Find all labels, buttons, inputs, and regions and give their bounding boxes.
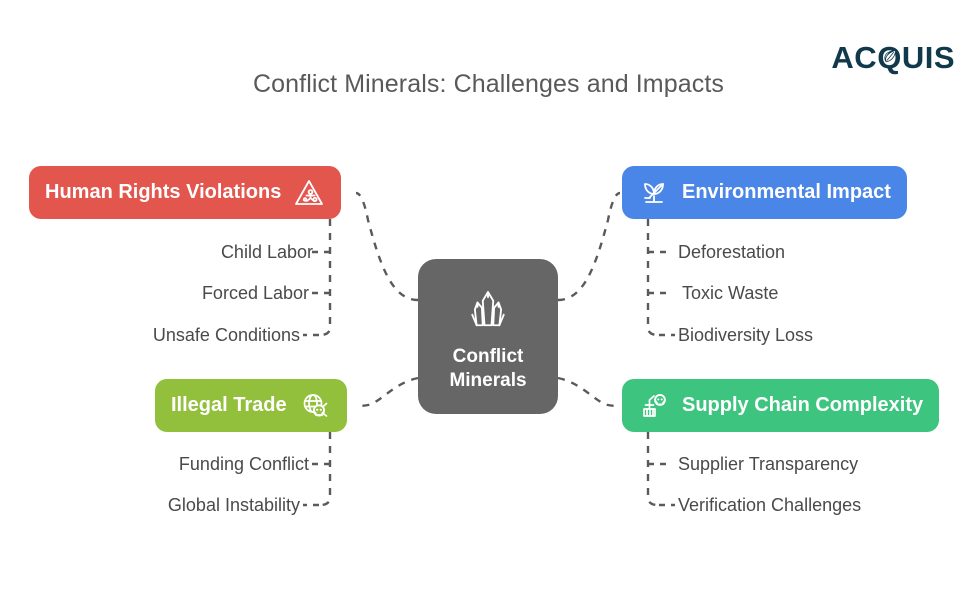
subitem-supplier-transparency: Supplier Transparency: [678, 455, 858, 473]
subitem-global-instability: Global Instability: [168, 496, 300, 514]
sprout-plant-icon: [638, 177, 670, 209]
subitem-forced-labor: Forced Labor: [202, 284, 309, 302]
page-title: Conflict Minerals: Challenges and Impact…: [0, 70, 977, 99]
subitem-child-labor: Child Labor: [221, 243, 313, 261]
trunk-illegal-trade: [320, 432, 330, 505]
brand-logo-part-a: AC: [831, 42, 877, 73]
trunk-human-rights: [320, 219, 330, 335]
center-node-label-line1: Conflict: [449, 345, 526, 368]
branch-label-human-rights-violations: Human Rights Violations: [45, 181, 281, 204]
trunk-environmental: [648, 219, 658, 335]
subitem-verification-challenges: Verification Challenges: [678, 496, 861, 514]
subitem-unsafe-conditions: Unsafe Conditions: [153, 326, 300, 344]
branch-node-supply-chain-complexity[interactable]: Supply Chain Complexity: [622, 379, 939, 432]
crystal-minerals-icon: [460, 285, 516, 341]
center-node-label-line2: Minerals: [449, 369, 526, 392]
trunk-supply-chain: [648, 432, 658, 505]
center-node-conflict-minerals[interactable]: Conflict Minerals: [418, 259, 558, 414]
warning-triangle-person-icon: [293, 177, 325, 209]
branch-label-environmental-impact: Environmental Impact: [682, 181, 891, 204]
brand-logo-part-b: UIS: [902, 42, 955, 73]
connector-center-to-human-rights: [356, 193, 418, 300]
branch-node-environmental-impact[interactable]: Environmental Impact: [622, 166, 907, 219]
connector-center-to-supply-chain: [558, 378, 620, 406]
center-node-label: Conflict Minerals: [449, 345, 526, 391]
subitem-funding-conflict: Funding Conflict: [179, 455, 309, 473]
subitem-biodiversity-loss: Biodiversity Loss: [678, 326, 813, 344]
branch-label-illegal-trade: Illegal Trade: [171, 394, 287, 417]
connector-center-to-illegal-trade: [356, 378, 418, 406]
connector-center-to-environmental: [558, 193, 620, 300]
subitem-deforestation: Deforestation: [678, 243, 785, 261]
branch-node-illegal-trade[interactable]: Illegal Trade: [155, 379, 347, 432]
brand-logo-q: Q: [877, 42, 902, 73]
subitem-toxic-waste: Toxic Waste: [682, 284, 778, 302]
brand-logo-text: ACQUIS: [831, 42, 955, 73]
container-crane-skull-icon: [638, 390, 670, 422]
branch-label-supply-chain-complexity: Supply Chain Complexity: [682, 394, 923, 417]
leaf-icon: [881, 48, 898, 65]
branch-node-human-rights-violations[interactable]: Human Rights Violations: [29, 166, 341, 219]
globe-skull-icon: [299, 390, 331, 422]
